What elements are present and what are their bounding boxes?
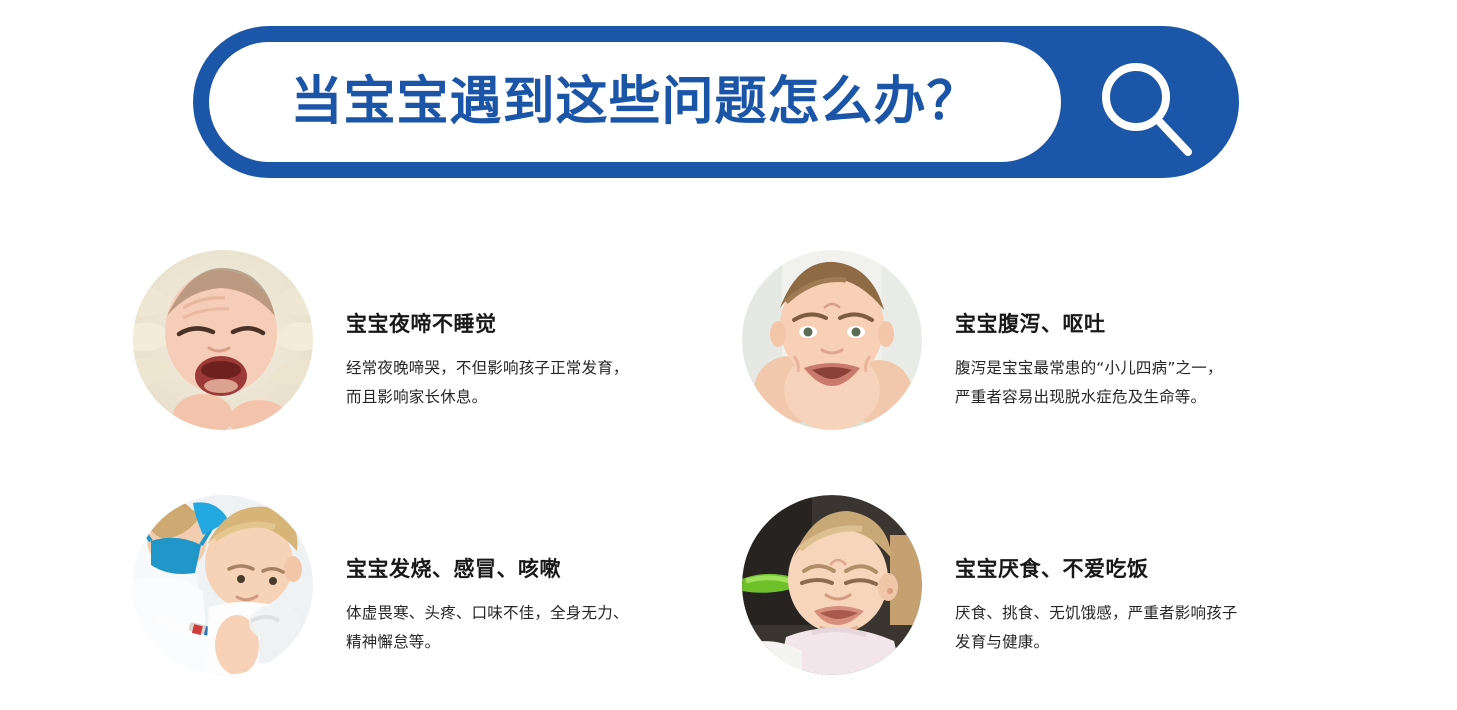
card-text-block: 宝宝厌食、不爱吃饭 厌食、挑食、无饥饿感，严重者影响孩子 发育与健康。 [955, 495, 1340, 657]
card-text-block: 宝宝发烧、感冒、咳嗽 体虚畏寒、头疼、口味不佳，全身无力、 精神懈怠等。 [346, 495, 731, 657]
card-description-line: 腹泻是宝宝最常患的“小儿四病”之一， [955, 359, 1223, 377]
page-header-banner: 当宝宝遇到这些问题怎么办？ [193, 26, 1239, 178]
banner-pill-inner: 当宝宝遇到这些问题怎么办？ [209, 42, 1061, 162]
list-item[interactable]: 宝宝夜啼不睡觉 经常夜晚啼哭，不但影响孩子正常发育， 而且影响家长休息。 [133, 250, 753, 462]
card-description-line: 体虚畏寒、头疼、口味不佳，全身无力、 [346, 604, 629, 622]
card-description: 腹泻是宝宝最常患的“小儿四病”之一， 严重者容易出现脱水症危及生命等。 [955, 354, 1340, 411]
distressed-baby-photo [742, 250, 922, 430]
card-description: 经常夜晚啼哭，不但影响孩子正常发育， 而且影响家长休息。 [346, 354, 731, 411]
card-text-block: 宝宝腹泻、呕吐 腹泻是宝宝最常患的“小儿四病”之一， 严重者容易出现脱水症危及生… [955, 250, 1340, 412]
card-description-line: 精神懈怠等。 [346, 633, 440, 651]
crying-newborn-photo [133, 250, 313, 430]
card-text-block: 宝宝夜啼不睡觉 经常夜晚啼哭，不但影响孩子正常发育， 而且影响家长休息。 [346, 250, 731, 412]
problem-cards-grid: 宝宝夜啼不睡觉 经常夜晚啼哭，不但影响孩子正常发育， 而且影响家长休息。 [0, 236, 1457, 710]
card-heading: 宝宝夜啼不睡觉 [346, 312, 731, 337]
card-description: 厌食、挑食、无饥饿感，严重者影响孩子 发育与健康。 [955, 599, 1340, 656]
card-description-line: 严重者容易出现脱水症危及生命等。 [955, 388, 1206, 406]
card-description-line: 经常夜晚啼哭，不但影响孩子正常发育， [346, 359, 629, 377]
card-heading: 宝宝厌食、不爱吃饭 [955, 557, 1340, 582]
nurse-vaccinating-baby-photo [133, 495, 313, 675]
list-item[interactable]: 宝宝发烧、感冒、咳嗽 体虚畏寒、头疼、口味不佳，全身无力、 精神懈怠等。 [133, 495, 753, 707]
search-icon[interactable] [1088, 52, 1208, 170]
card-description-line: 发育与健康。 [955, 633, 1049, 651]
list-item[interactable]: 宝宝厌食、不爱吃饭 厌食、挑食、无饥饿感，严重者影响孩子 发育与健康。 [742, 495, 1362, 707]
list-item[interactable]: 宝宝腹泻、呕吐 腹泻是宝宝最常患的“小儿四病”之一， 严重者容易出现脱水症危及生… [742, 250, 1362, 462]
card-description: 体虚畏寒、头疼、口味不佳，全身无力、 精神懈怠等。 [346, 599, 731, 656]
page-title: 当宝宝遇到这些问题怎么办？ [290, 76, 979, 128]
card-description-line: 而且影响家长休息。 [346, 388, 487, 406]
card-heading: 宝宝发烧、感冒、咳嗽 [346, 557, 731, 582]
card-heading: 宝宝腹泻、呕吐 [955, 312, 1340, 337]
card-description-line: 厌食、挑食、无饥饿感，严重者影响孩子 [955, 604, 1238, 622]
picky-eater-toddler-photo [742, 495, 922, 675]
